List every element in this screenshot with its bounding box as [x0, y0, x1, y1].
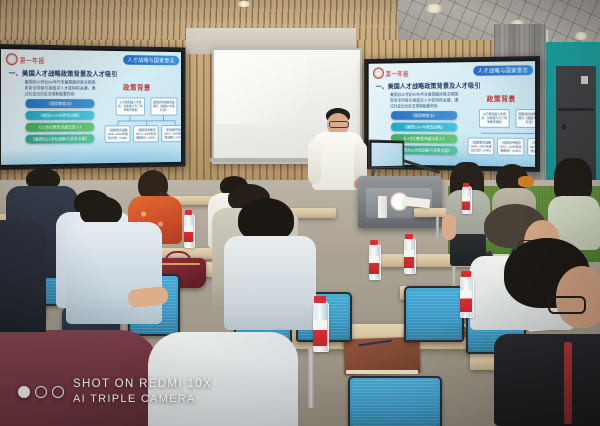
chip-label: 《美国为21世纪创新与竞争法案》 [31, 136, 89, 142]
flow-box-bottom-1: 《国家教育战略1998—2001年规划计划》(1998) [105, 125, 131, 143]
lens-dots-icon [18, 386, 64, 398]
slide-flowchart: 以不断加强人才培养、创新能力为了科学教育规划 国家的科技教育政策与《美国人才吸引… [468, 109, 536, 164]
torso [224, 236, 316, 330]
list-item: 《美国2000年教育战略》 [391, 123, 457, 132]
bottle-cap [461, 271, 471, 277]
desk-leg-b2 [436, 217, 439, 239]
slide-heading: 一、美国人才战略政策背景及人才吸引 [376, 80, 481, 91]
camera-watermark: SHOT ON REDMI 10X AI TRIPLE CAMERA [18, 378, 212, 406]
slide-logo: 第一年报 [373, 67, 409, 79]
slide-banner-tag: 人才战略与国家意志 [473, 65, 533, 76]
flow-connector-v1 [130, 116, 131, 121]
bottle-cap [185, 210, 192, 215]
slide-paragraph: 美国自20世纪50年代末美国政府首次将国家安全同吸引高层次人才挂钩的关键，通过社… [25, 79, 96, 98]
flow-box-bottom-1: 《国家教育战略1998—2001年规划计划》(1998) [468, 137, 495, 155]
list-item: 《国家教育法》 [391, 111, 457, 120]
audience-dark-head-center [224, 198, 316, 330]
eyeglasses [548, 296, 586, 314]
lens-dot-outline-icon-1 [35, 386, 47, 398]
seal-icon [6, 53, 18, 65]
audience-left-edge [0, 220, 46, 332]
flow-connector-h [481, 133, 535, 134]
flow-box-top-2: 国家的科技教育政策与《美国人才吸引法》 [515, 109, 535, 128]
lens-dot-outline-icon-2 [52, 386, 64, 398]
bottle-cap [405, 234, 413, 239]
handbag-zipper [158, 263, 200, 265]
chair-mesh [352, 380, 438, 426]
flow-text: 《科技教育规划2002—2006年国家战略》(2002) [164, 127, 181, 139]
flow-box-bottom-2: 《国家科学教育2001—2005年战略规划》(2001) [497, 138, 524, 156]
door-handle[interactable] [562, 124, 566, 130]
flow-connector-v2 [163, 116, 164, 121]
flow-box-top-2: 国家的科技教育政策与《美国人才吸引法》 [150, 97, 177, 115]
flow-text: 以不断加强人才培养、创新能力为了科学教育规划 [118, 100, 143, 112]
downlight-4 [236, 1, 252, 7]
list-item: 《美国为21世纪创新与竞争法案》 [26, 134, 95, 143]
chip-label: 《国家教育法》 [47, 101, 74, 107]
flow-text: 《国家科学教育2001—2005年战略规划》(2001) [136, 127, 156, 139]
desk-leg-fg [308, 348, 314, 408]
door-panel-line [558, 108, 594, 111]
presentation-slide: 第一年报 人才战略与国家意志 一、美国人才战略政策背景及人才吸引 美国自20世纪… [1, 49, 181, 165]
flow-text: 以不断加强人才培养、创新能力为了科学教育规划 [481, 112, 507, 124]
flow-text: 国家的科技教育政策与《美国人才吸引法》 [518, 111, 535, 123]
hair-clip [518, 176, 534, 187]
presenter-arm-left [308, 140, 321, 184]
flow-box-bottom-2: 《国家科学教育2001—2005年战略规划》(2001) [133, 125, 158, 142]
bottle-label [460, 290, 472, 312]
flow-connector-h [118, 120, 176, 121]
water-cup[interactable] [378, 196, 387, 218]
bottle-cap [463, 183, 469, 187]
slide-policy-list: 《国家教育法》 《美国2000年教育战略》 《21世纪教育卓越法案人》 《美国为… [26, 99, 95, 144]
presenter-glasses [329, 121, 349, 128]
chip-label: 《21世纪教育卓越法案人》 [37, 124, 83, 130]
torso [0, 220, 46, 332]
bottle-label [184, 226, 193, 242]
slide-section-title: 政策背景 [487, 94, 516, 104]
slide-flowchart: 以不断加强人才培养、创新能力为了科学教育规划 国家的科技教育政策与《美国人才吸引… [105, 97, 181, 150]
bottle-cap [314, 296, 326, 303]
flow-box-bottom-3: 《科技教育规划2002—2006年国家战略》(2002) [527, 138, 535, 156]
chair-foreground[interactable] [348, 376, 442, 426]
podium-monitor[interactable] [369, 140, 405, 169]
flow-text: 《科技教育规划2002—2006年国家战略》(2002) [530, 140, 535, 152]
seal-icon [373, 67, 384, 79]
chip-label: 《美国为21世纪创新与竞争法案》 [396, 147, 452, 153]
flow-text: 国家的科技教育政策与《美国人才吸引法》 [153, 100, 175, 112]
arm [442, 214, 456, 240]
bottle-label [313, 320, 327, 346]
podium-monitor-screen [371, 142, 402, 166]
watermark-line-2: AI TRIPLE CAMERA [73, 393, 212, 406]
watermark-text: SHOT ON REDMI 10X AI TRIPLE CAMERA [73, 378, 212, 406]
slide-section-title: 政策背景 [123, 83, 151, 93]
downlight-3 [573, 32, 589, 40]
flow-text: 《国家教育战略1998—2001年规划计划》(1998) [470, 140, 491, 152]
whiteboard-glare [216, 54, 306, 124]
chip-label: 《21世纪教育卓越法案人》 [402, 136, 447, 142]
door-sign [581, 76, 588, 84]
list-item: 《美国2000年教育战略》 [26, 111, 95, 120]
slide-logo-text: 第一年报 [386, 68, 409, 78]
projection-screen-main: 第一年报 人才战略与国家意志 一、美国人才战略政策背景及人才吸引 美国自20世纪… [0, 44, 185, 170]
slide-banner-tag: 人才战略与国家意志 [123, 55, 179, 65]
bottle-label [404, 250, 414, 268]
flow-box-top-1: 以不断加强人才培养、创新能力为了科学教育规划 [479, 109, 510, 128]
flow-text: 《国家科学教育2001—2005年战略规划》(2001) [500, 140, 522, 152]
torso [494, 334, 600, 426]
shirt-stripe [564, 342, 572, 424]
chair-mesh [408, 290, 460, 338]
photo-canvas: 第一年报 人才战略与国家意志 一、美国人才战略政策背景及人才吸引 美国自20世纪… [0, 0, 600, 426]
lens-dot-filled-icon [18, 386, 30, 398]
chair-right-1[interactable] [404, 286, 464, 342]
list-item: 《21世纪教育卓越法案人》 [26, 123, 95, 132]
bottle-label [462, 196, 470, 210]
list-item: 《国家教育法》 [26, 99, 95, 108]
audience-blue-shirt-mid [66, 196, 162, 324]
notebook-pages [346, 370, 418, 374]
torso [66, 222, 162, 324]
chip-label: 《美国2000年教育战略》 [403, 124, 444, 130]
chip-label: 《美国2000年教育战略》 [39, 112, 82, 118]
flow-box-bottom-3: 《科技教育规划2002—2006年国家战略》(2002) [161, 125, 181, 142]
watermark-line-1: SHOT ON REDMI 10X [73, 378, 212, 392]
slide-heading: 一、美国人才战略政策背景及人才吸引 [9, 67, 118, 78]
slide-logo-text: 第一年报 [20, 54, 45, 65]
slide-logo: 第一年报 [6, 53, 45, 65]
flow-text: 《国家教育战略1998—2001年规划计划》(1998) [107, 128, 128, 140]
downlight-1 [424, 4, 444, 13]
slide-paragraph: 美国自20世纪50年代末美国政府首次将国家安全同吸引高层次人才挂钩的关键，通过社… [390, 92, 458, 110]
bottle-cap [370, 240, 378, 245]
audience-foreground-right-dark [494, 238, 600, 426]
flow-box-top-1: 以不断加强人才培养、创新能力为了科学教育规划 [116, 97, 145, 115]
bottle-label [369, 256, 379, 274]
chip-label: 《国家教育法》 [411, 113, 437, 119]
